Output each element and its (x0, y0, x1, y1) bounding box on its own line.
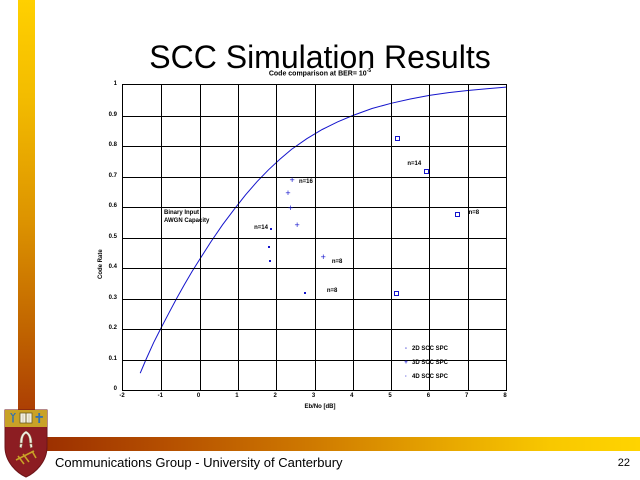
y-tick-label: 1 (91, 81, 117, 87)
y-tick-label: 0.1 (91, 356, 117, 362)
x-tick-label: 2 (265, 393, 285, 399)
y-tick-label: 0.8 (91, 142, 117, 148)
legend-item-label: 4D SCC SPC (412, 374, 448, 380)
data-point-square-marker (455, 212, 460, 217)
plot-area (122, 84, 507, 391)
plus-marker-icon: + (400, 360, 412, 366)
data-point-plus-marker (296, 226, 301, 231)
legend-item-label: 2D SCC SPC (412, 346, 448, 352)
data-point-square-marker (394, 291, 399, 296)
chart-title: Code comparison at BER= 10-5 (0, 68, 640, 77)
data-point-dot-marker (268, 246, 270, 248)
legend-item: ·4D SCC SPC (400, 374, 448, 380)
point-annotation-label: n=8 (332, 259, 343, 265)
point-annotation-label: n=8 (469, 210, 480, 216)
y-tick-label: 0 (91, 386, 117, 392)
x-tick-label: 5 (380, 393, 400, 399)
y-tick-label: 0.5 (91, 234, 117, 240)
university-crest-logo (2, 407, 50, 479)
gridline-horizontal (123, 360, 506, 361)
x-tick-label: 4 (342, 393, 362, 399)
chart-figure: Code comparison at BER= 10-5 Code Rate E… (0, 64, 640, 419)
point-annotation-label: n=16 (299, 179, 313, 185)
x-tick-label: -1 (150, 393, 170, 399)
gridline-horizontal (123, 177, 506, 178)
capacity-annotation-line1: Binary Input (164, 209, 209, 217)
y-tick-label: 0.4 (91, 264, 117, 270)
legend-item: +3D SCC SPC (400, 360, 448, 366)
legend-item: ▫2D SCC SPC (400, 346, 448, 352)
data-point-plus-marker (322, 258, 327, 263)
x-tick-label: 3 (304, 393, 324, 399)
gridline-horizontal (123, 238, 506, 239)
point-annotation-label: n=8 (327, 288, 338, 294)
square-marker-icon: ▫ (400, 346, 412, 352)
y-tick-label: 0.6 (91, 203, 117, 209)
footer-text: Communications Group - University of Can… (55, 455, 343, 470)
gridline-horizontal (123, 146, 506, 147)
gridline-horizontal (123, 207, 506, 208)
x-tick-label: 6 (418, 393, 438, 399)
capacity-annotation: Binary Input AWGN Capacity (164, 209, 209, 225)
gridline-horizontal (123, 299, 506, 300)
data-point-dot-marker (270, 228, 272, 230)
data-point-dot-marker (304, 292, 306, 294)
point-annotation-label: n=14 (407, 161, 421, 167)
y-tick-label: 0.2 (91, 325, 117, 331)
data-point-square-marker (424, 169, 429, 174)
gridline-horizontal (123, 116, 506, 117)
y-tick-label: 0.7 (91, 173, 117, 179)
y-tick-label: 0.3 (91, 295, 117, 301)
x-tick-label: 0 (189, 393, 209, 399)
footer-accent-bar (47, 437, 640, 451)
page-number: 22 (618, 457, 630, 469)
data-point-plus-marker (289, 209, 294, 214)
data-point-dot-marker (269, 260, 271, 262)
x-tick-label: 8 (495, 393, 515, 399)
gridline-horizontal (123, 329, 506, 330)
y-tick-label: 0.9 (91, 112, 117, 118)
x-axis-label: Eb/No [dB] (0, 404, 640, 410)
x-tick-label: -2 (112, 393, 132, 399)
dot-marker-icon: · (400, 374, 412, 380)
chart-title-exponent: -5 (367, 68, 371, 74)
data-point-plus-marker (291, 181, 296, 186)
capacity-annotation-line2: AWGN Capacity (164, 217, 209, 225)
data-point-plus-marker (286, 194, 291, 199)
chart-title-text: Code comparison at BER= 10 (269, 70, 367, 77)
legend-item-label: 3D SCC SPC (412, 360, 448, 366)
x-tick-label: 1 (227, 393, 247, 399)
data-point-square-marker (395, 136, 400, 141)
point-annotation-label: n=14 (254, 225, 268, 231)
gridline-horizontal (123, 268, 506, 269)
x-tick-label: 7 (457, 393, 477, 399)
